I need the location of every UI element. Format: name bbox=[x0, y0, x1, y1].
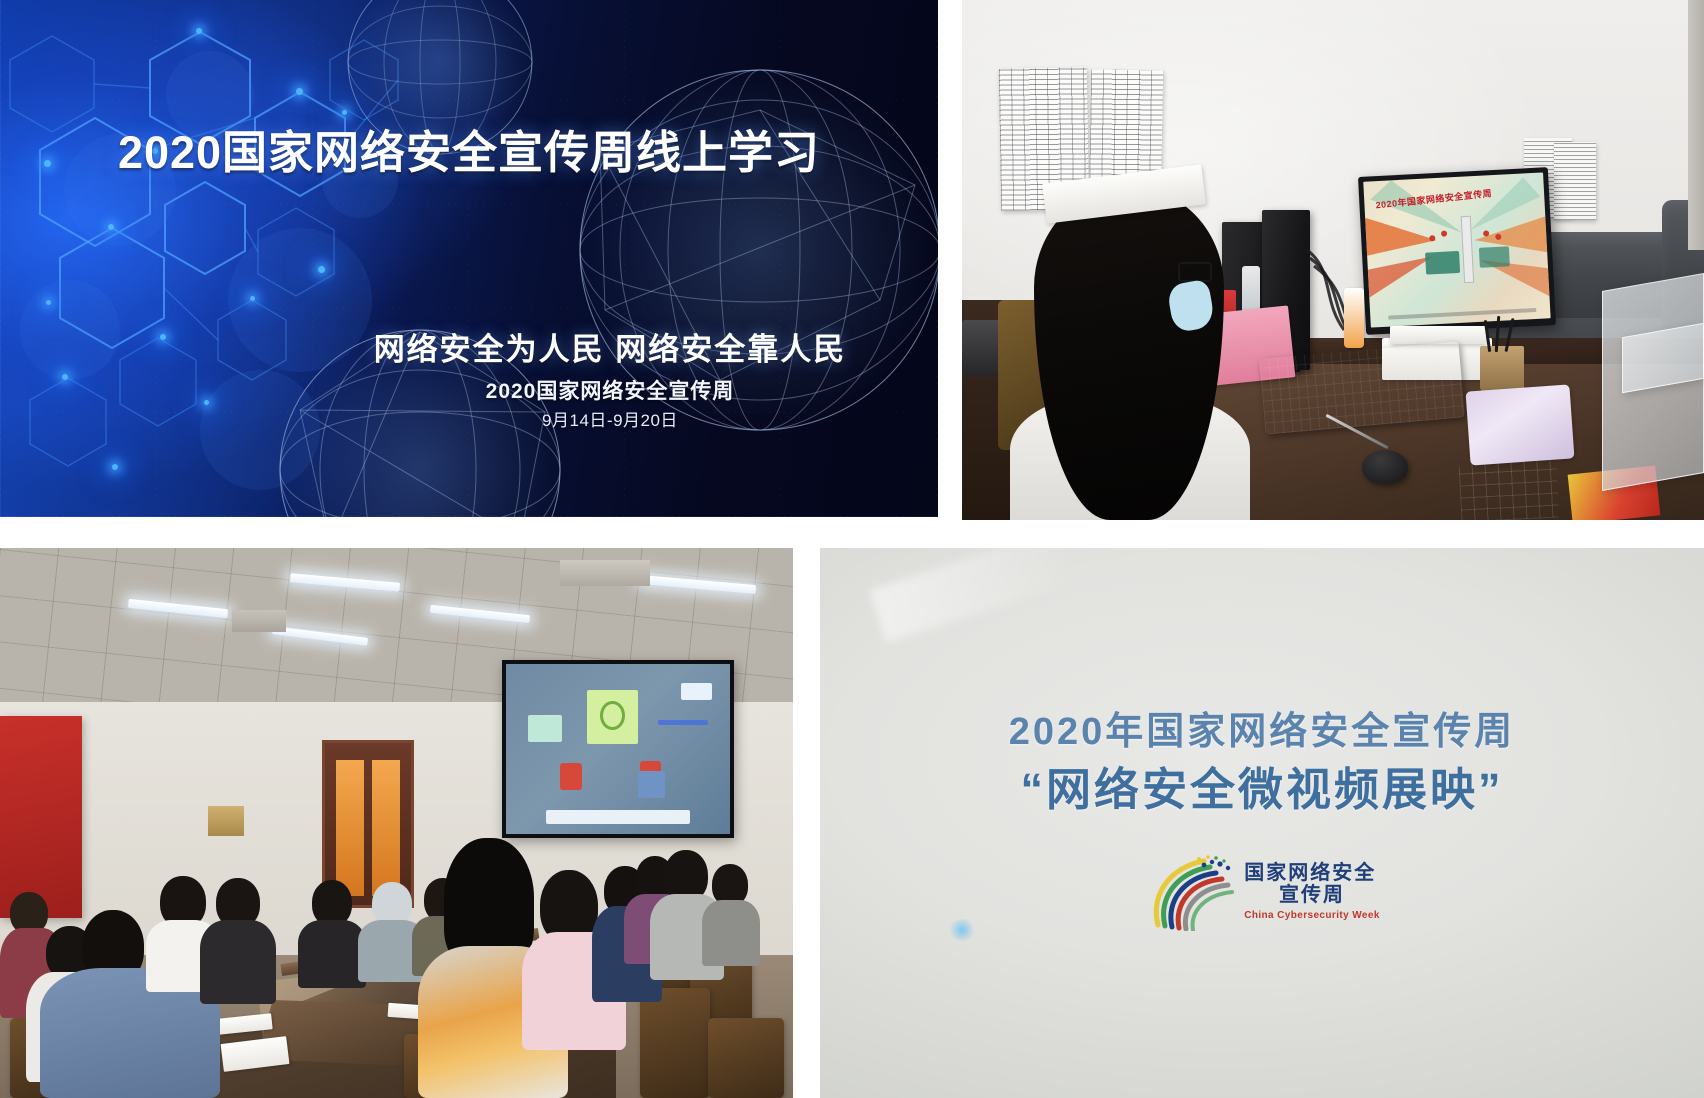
mouse bbox=[1362, 450, 1408, 484]
cybersecurity-week-title-slide: 2020国家网络安全宣传周线上学习 网络安全为人民 网络安全靠人民 2020国家… bbox=[0, 0, 938, 517]
slide-title: 2020国家网络安全宣传周线上学习 bbox=[0, 116, 938, 181]
monitor-screen: 2020年国家网络安全宣传周 bbox=[1363, 172, 1550, 327]
glow-node bbox=[46, 300, 51, 305]
wall-highlight bbox=[869, 548, 1071, 643]
slide-slogan: 网络安全为人民 网络安全靠人民 bbox=[330, 324, 890, 369]
projected-slide bbox=[506, 664, 730, 834]
pen-cup bbox=[1480, 346, 1524, 392]
glow-node bbox=[318, 266, 325, 273]
slide-subtitle: 2020国家网络安全宣传周 bbox=[330, 375, 890, 405]
glow-node bbox=[204, 400, 209, 405]
wooden-chair bbox=[640, 988, 710, 1098]
conference-room-photo bbox=[0, 548, 793, 1098]
ac-vent bbox=[560, 560, 650, 586]
glow-node bbox=[112, 464, 118, 470]
attendee-body bbox=[702, 900, 760, 966]
calculator bbox=[1459, 459, 1560, 520]
glow-node bbox=[250, 296, 255, 301]
wooden-chair bbox=[708, 1018, 784, 1098]
logo-rainbow-arc-icon bbox=[1144, 853, 1240, 931]
slide-underline bbox=[658, 720, 707, 725]
glow-node bbox=[160, 334, 166, 340]
slide-person-body bbox=[638, 771, 665, 798]
cybersecurity-week-backdrop-photo: 2020年国家网络安全宣传周 “网络安全微视频展映” bbox=[820, 548, 1704, 1098]
logo-chinese-line-1: 国家网络安全 bbox=[1244, 863, 1380, 885]
door-glass-panel bbox=[336, 760, 364, 896]
logo-chinese-line-2: 宣传周 bbox=[1244, 885, 1380, 907]
slide-icon-card bbox=[528, 715, 562, 742]
logo-english-line: China Cybersecurity Week bbox=[1244, 910, 1380, 921]
projection-screen bbox=[502, 660, 734, 838]
eyeglasses bbox=[1178, 262, 1212, 282]
glow-node bbox=[342, 110, 347, 115]
office-worker-photo: 2020年国家网络安全宣传周 bbox=[962, 0, 1704, 520]
ac-vent bbox=[232, 610, 286, 632]
hand-sanitizer-bottle bbox=[1344, 288, 1364, 348]
wall-sign bbox=[208, 806, 244, 836]
slide-lock-icon bbox=[560, 763, 582, 790]
glow-node bbox=[296, 88, 303, 95]
wall-blue-smudge bbox=[948, 919, 976, 941]
glow-node bbox=[62, 374, 68, 380]
photo-collage: 2020国家网络安全宣传周线上学习 网络安全为人民 网络安全靠人民 2020国家… bbox=[0, 0, 1704, 1098]
rainbow-arc-svg bbox=[1144, 853, 1240, 931]
slide-icon-card bbox=[681, 683, 712, 700]
tissue-pack bbox=[1466, 384, 1575, 465]
china-cybersecurity-week-logo: 国家网络安全 宣传周 China Cybersecurity Week bbox=[820, 853, 1704, 931]
computer-monitor: 2020年国家网络安全宣传周 bbox=[1358, 167, 1556, 335]
glow-node bbox=[196, 28, 202, 34]
slide-circle-icon bbox=[600, 701, 625, 730]
logo-text-block: 国家网络安全 宣传周 China Cybersecurity Week bbox=[1244, 863, 1380, 920]
attendee-body bbox=[200, 920, 276, 1004]
backdrop-line-2: “网络安全微视频展映” bbox=[820, 753, 1704, 818]
attendee-body bbox=[298, 920, 366, 988]
glow-node bbox=[108, 224, 114, 230]
backdrop-line-1: 2020年国家网络安全宣传周 bbox=[820, 700, 1704, 755]
slide-caption-bar bbox=[546, 810, 689, 824]
door-glass-panel bbox=[372, 760, 400, 896]
paper-stack bbox=[1390, 326, 1486, 344]
red-banner bbox=[0, 716, 82, 918]
slide-date-range: 9月14日-9月20日 bbox=[330, 406, 890, 431]
slide-network-graphic bbox=[0, 0, 938, 517]
